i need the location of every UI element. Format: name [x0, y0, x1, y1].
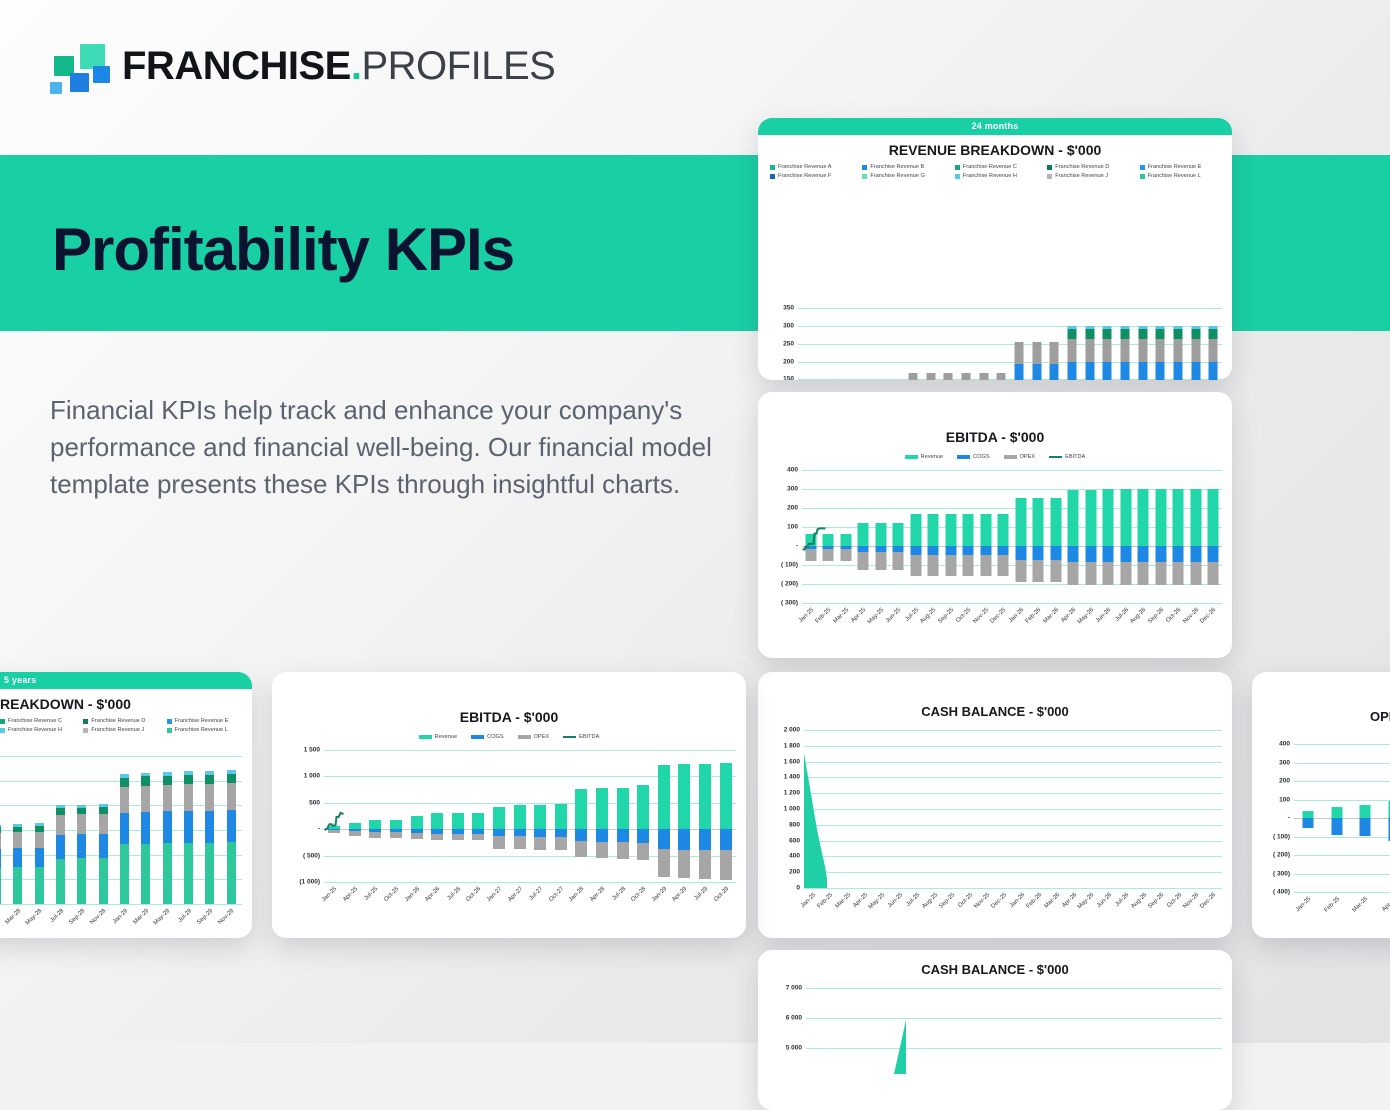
bar-segment: [35, 832, 44, 848]
bar-segment: [0, 849, 1, 868]
y-axis-tick: ( 100): [1273, 833, 1294, 840]
bar-segment: [205, 775, 214, 784]
bar-segment: [997, 373, 1006, 380]
bar-segment: [56, 835, 65, 859]
bar-segment: [369, 820, 381, 829]
x-axis-tick: Apr-26: [1061, 892, 1078, 909]
bar-segment: [184, 775, 193, 784]
bar-segment: [1103, 562, 1114, 585]
legend-swatch-opex: [518, 735, 531, 739]
x-axis-tick: Dec-26: [1200, 892, 1218, 910]
legend-swatch-h: [955, 174, 960, 179]
legend-label: Franchise Revenue E: [1148, 164, 1202, 170]
brand-name-dot: .: [351, 44, 362, 88]
x-axis-tick: Feb-25: [817, 892, 835, 910]
bar-segment: [658, 849, 670, 876]
x-axis-tick: May-25: [867, 607, 885, 625]
legend-item: Franchise Revenue G: [856, 173, 948, 179]
bar-segment: [1103, 546, 1114, 562]
bar-segment: [979, 373, 988, 380]
x-axis-tick: Jan-25: [321, 886, 338, 903]
x-axis-tick: Aug-26: [1130, 607, 1148, 625]
x-axis-tick: Sep-25: [937, 607, 955, 625]
plot-revenue-24m: -50100150200250300350Jan-25Feb-25Mar-25A…: [798, 308, 1222, 380]
bar-segment: [910, 546, 921, 555]
legend-label: Franchise Revenue D: [91, 718, 145, 724]
bar-segment: [1208, 489, 1219, 546]
x-axis-tick: Apr-29: [672, 886, 689, 903]
bar-segment: [184, 784, 193, 811]
bar-segment: [1015, 546, 1026, 560]
bar-segment: [369, 832, 381, 838]
bar-segment: [184, 811, 193, 843]
logo-squares-icon: [46, 40, 108, 92]
bar-segment: [120, 813, 129, 844]
legend-swatch-e: [167, 719, 172, 724]
bar-segment: [699, 850, 711, 879]
bar-segment: [514, 829, 526, 836]
card-cash-balance-5y[interactable]: CASH BALANCE - $'000 7 0006 0005 000: [758, 950, 1232, 1110]
x-axis-tick: Sep-25: [938, 892, 956, 910]
bar-segment: [472, 813, 484, 829]
y-axis-tick: ( 500): [303, 852, 324, 859]
bar-segment: [575, 789, 587, 829]
legend-swatch-h: [0, 728, 5, 733]
x-axis-tick: Oct-25: [957, 892, 974, 909]
bar-segment: [637, 829, 649, 842]
bar-segment: [945, 514, 956, 546]
bar-segment: [0, 868, 1, 904]
bar-segment: [431, 834, 443, 840]
bar-segment: [910, 514, 921, 546]
bar-segment: [858, 523, 869, 546]
x-axis-tick: Mar-28: [5, 908, 23, 926]
bar-segment: [555, 804, 567, 829]
brand-wordmark: FRANCHISE.PROFILES: [122, 46, 555, 86]
brand-logo[interactable]: FRANCHISE.PROFILES: [46, 40, 555, 92]
bar-segment: [980, 514, 991, 546]
bar-segment: [514, 836, 526, 849]
bar-segment: [637, 843, 649, 860]
x-axis-tick: Jan-26: [404, 886, 421, 903]
bar-segment: [1015, 498, 1026, 546]
x-axis-tick: May-26: [1077, 892, 1095, 910]
bar-segment: [13, 848, 22, 867]
x-axis-tick: Nov-26: [1182, 892, 1200, 910]
bar-segment: [1085, 490, 1096, 546]
cash-area: [806, 988, 906, 1074]
x-axis-tick: Jan-29: [112, 908, 129, 925]
y-axis-tick: 300: [1279, 759, 1294, 766]
bar-segment: [908, 373, 917, 380]
x-axis-tick: Jul-27: [529, 886, 545, 902]
x-axis-tick: Jul-29: [177, 908, 193, 924]
bar-segment: [13, 832, 22, 848]
bar-segment: [1050, 560, 1061, 582]
bar-segment: [1138, 329, 1147, 339]
x-axis-tick: Dec-25: [990, 607, 1008, 625]
legend-item: Revenue: [419, 734, 457, 740]
brand-name-light: PROFILES: [361, 44, 555, 88]
bar-segment: [1173, 489, 1184, 546]
bar-segment: [998, 555, 1009, 576]
legend-swatch-opex: [1004, 455, 1017, 459]
bar-segment: [1033, 560, 1044, 582]
x-axis-tick: Jul-26: [446, 886, 462, 902]
x-axis-tick: Apr-28: [589, 886, 606, 903]
x-axis-tick: Mar-25: [832, 607, 850, 625]
x-axis-tick: Jun-26: [1095, 607, 1112, 624]
x-axis-tick: Mar-26: [1043, 892, 1061, 910]
bar-segment: [1155, 562, 1166, 585]
card-ebitda-5y[interactable]: EBITDA - $'000 Revenue COGS OPEX EBITDA …: [272, 672, 746, 938]
plot-ebitda-5y: (1 000)( 500)-5001 0001 500Jan-25Apr-25J…: [324, 750, 736, 882]
bar-segment: [1103, 489, 1114, 546]
legend-swatch-d: [1047, 165, 1052, 170]
chart-title-cash-24m: CASH BALANCE - $'000: [758, 704, 1232, 719]
bar-segment: [658, 829, 670, 849]
legend-item: Franchise Revenue L: [1134, 173, 1226, 179]
bar-segment: [699, 764, 711, 829]
bar-segment: [184, 843, 193, 904]
x-axis-tick: Sep-26: [1147, 892, 1165, 910]
bar-segment: [1085, 546, 1096, 562]
x-axis-tick: Nov-29: [218, 908, 236, 926]
bar-segment: [411, 816, 423, 829]
y-axis-tick: 6 000: [786, 1015, 806, 1022]
legend-swatch-j: [83, 728, 88, 733]
bar-segment: [1303, 811, 1314, 818]
bar-segment: [1156, 362, 1165, 380]
x-axis-tick: Jan-27: [486, 886, 503, 903]
legend-item: COGS: [471, 734, 503, 740]
card-opex-partial[interactable]: OPE ( 400)( 300)( 200)( 100)-10020030040…: [1252, 672, 1390, 938]
bar-segment: [678, 829, 690, 850]
cash-area: [804, 730, 827, 888]
y-axis-tick: 200: [783, 358, 798, 365]
legend-revenue-24m: Franchise Revenue A Franchise Revenue B …: [764, 164, 1226, 179]
plot-revenue-5y: Jan-27Mar-27May-27Jul-27Sep-27Nov-27Jan-…: [0, 756, 242, 904]
ebitda-line: [802, 470, 826, 603]
y-axis-tick: 1 500: [304, 747, 324, 754]
bar-segment: [945, 546, 956, 555]
x-axis-tick: Oct-26: [1166, 892, 1183, 909]
x-axis-tick: Feb-25: [815, 607, 833, 625]
legend-swatch-d: [83, 719, 88, 724]
bar-segment: [840, 549, 851, 561]
bar-segment: [77, 814, 86, 834]
x-axis-tick: Oct-29: [713, 886, 730, 903]
bar-segment: [1120, 339, 1129, 362]
bar-segment: [227, 774, 236, 783]
legend-label: OPEX: [1020, 454, 1036, 460]
y-axis-tick: 400: [787, 467, 802, 474]
bar-segment: [980, 546, 991, 555]
legend-label: Franchise Revenue L: [1148, 173, 1201, 179]
y-axis-tick: 300: [787, 486, 802, 493]
bar-segment: [534, 805, 546, 829]
bar-segment: [875, 523, 886, 546]
bar-segment: [0, 833, 1, 849]
legend-item: OPEX: [1004, 454, 1036, 460]
legend-swatch-g: [862, 174, 867, 179]
legend-swatch-c: [955, 165, 960, 170]
x-axis-tick: May-26: [1077, 607, 1095, 625]
y-axis-tick: ( 200): [781, 581, 802, 588]
bar-segment: [35, 867, 44, 904]
legend-item: Franchise Revenue D: [83, 718, 166, 724]
bar-segment: [452, 834, 464, 840]
legend-item: Franchise Revenue B: [856, 164, 948, 170]
chart-title-opex: OPE: [1252, 709, 1390, 724]
bar-segment: [493, 807, 505, 830]
y-axis-tick: 200: [789, 869, 804, 876]
y-axis-tick: ( 100): [781, 562, 802, 569]
plot-ebitda-24m: ( 300)( 200)( 100)-100200300400Jan-25Feb…: [802, 470, 1222, 603]
bar-segment: [1138, 362, 1147, 380]
bar-segment: [390, 832, 402, 838]
legend-swatch-c: [0, 719, 5, 724]
y-axis-tick: 1 000: [784, 806, 804, 813]
bar-segment: [99, 814, 108, 834]
bar-segment: [1138, 562, 1149, 585]
chart-title-ebitda-5y: EBITDA - $'000: [272, 709, 746, 725]
bar-segment: [1032, 364, 1041, 380]
bar-segment: [1155, 489, 1166, 546]
bar-segment: [56, 815, 65, 835]
x-axis-tick: Jun-25: [887, 892, 904, 909]
legend-item: Revenue: [905, 454, 943, 460]
bar-segment: [596, 829, 608, 842]
x-axis-tick: Oct-27: [548, 886, 565, 903]
x-axis-tick: Jul-29: [693, 886, 709, 902]
legend-item: Franchise Revenue C: [949, 164, 1041, 170]
legend-label: OPEX: [534, 734, 550, 740]
legend-label: Franchise Revenue H: [8, 727, 62, 733]
legend-label: Franchise Revenue F: [778, 173, 831, 179]
y-axis-tick: 1 000: [304, 773, 324, 780]
bar-segment: [1050, 364, 1059, 380]
y-axis-tick: 150: [783, 376, 798, 380]
bar-segment: [1173, 546, 1184, 562]
bar-segment: [1068, 562, 1079, 585]
x-axis-tick: Sep-28: [68, 908, 86, 926]
bar-segment: [1033, 498, 1044, 546]
legend-item: EBITDA: [1049, 454, 1085, 460]
x-axis-tick: Apr-25: [342, 886, 359, 903]
x-axis-tick: Jan-25: [798, 607, 815, 624]
legend-label: Revenue: [921, 454, 943, 460]
bar-segment: [1103, 362, 1112, 380]
page-title: Profitability KPIs: [52, 215, 514, 284]
legend-item: Franchise Revenue C: [0, 718, 83, 724]
bar-segment: [1360, 818, 1371, 836]
x-axis-tick: Aug-25: [921, 892, 939, 910]
y-axis-tick: 2 000: [784, 727, 804, 734]
bar-segment: [77, 834, 86, 858]
bar-segment: [141, 786, 150, 812]
legend-swatch-revenue: [419, 735, 432, 739]
bar-segment: [699, 829, 711, 850]
bar-segment: [1067, 362, 1076, 380]
y-axis-tick: ( 300): [781, 600, 802, 607]
bar-segment: [1190, 562, 1201, 585]
bar-segment: [452, 813, 464, 829]
y-axis-tick: 800: [789, 821, 804, 828]
bar-segment: [840, 534, 851, 546]
bar-segment: [875, 552, 886, 569]
y-axis-tick: ( 200): [1273, 852, 1294, 859]
x-axis-tick: Apr-26: [425, 886, 442, 903]
bar-segment: [141, 812, 150, 844]
bar-segment: [1068, 546, 1079, 562]
bar-segment: [99, 858, 108, 904]
bar-segment: [1014, 364, 1023, 380]
y-axis-tick: 100: [1279, 796, 1294, 803]
legend-item: Franchise Revenue D: [1041, 164, 1133, 170]
plot-cash-5y: 7 0006 0005 000: [806, 988, 1222, 1074]
bar-segment: [120, 844, 129, 904]
bar-segment: [1120, 362, 1129, 380]
bar-segment: [944, 373, 953, 380]
bar-segment: [1050, 546, 1061, 560]
legend-label: COGS: [973, 454, 989, 460]
x-axis-tick: May-28: [25, 908, 43, 926]
legend-swatch-l: [167, 728, 172, 733]
bar-segment: [1156, 329, 1165, 339]
bar-segment: [678, 850, 690, 879]
y-axis-tick: 350: [783, 305, 798, 312]
bar-segment: [1120, 546, 1131, 562]
bar-segment: [1209, 362, 1218, 380]
bar-segment: [596, 788, 608, 829]
y-axis-tick: 7 000: [786, 985, 806, 992]
x-axis-tick: Jul-26: [1114, 607, 1130, 623]
y-axis-tick: 400: [1279, 741, 1294, 748]
bar-segment: [1120, 329, 1129, 339]
y-axis-tick: (1 000): [299, 879, 324, 886]
x-axis-tick: Nov-26: [1182, 607, 1200, 625]
legend-swatch-j: [1047, 174, 1052, 179]
bar-segment: [720, 829, 732, 850]
y-axis-tick: ( 400): [1273, 889, 1294, 896]
x-axis-tick: Nov-25: [973, 892, 991, 910]
legend-swatch-ebitda: [1049, 456, 1062, 458]
x-axis-tick: Sep-26: [1147, 607, 1165, 625]
legend-label: EBITDA: [579, 734, 599, 740]
bar-segment: [411, 833, 423, 839]
bar-segment: [1190, 546, 1201, 562]
legend-swatch-cogs: [471, 735, 484, 739]
bar-segment: [1208, 546, 1219, 562]
bar-segment: [514, 805, 526, 829]
bar-segment: [493, 829, 505, 836]
bar-segment: [910, 555, 921, 576]
bar-segment: [1173, 329, 1182, 339]
bar-segment: [1032, 342, 1041, 364]
legend-item: COGS: [957, 454, 989, 460]
bar-segment: [349, 831, 361, 836]
legend-label: Franchise Revenue G: [870, 173, 924, 179]
bar-segment: [617, 788, 629, 830]
x-axis-tick: Jan-28: [0, 908, 1, 925]
bar-segment: [617, 829, 629, 842]
x-axis-tick: Feb-26: [1025, 607, 1043, 625]
bar-segment: [596, 842, 608, 858]
y-axis-tick: 250: [783, 340, 798, 347]
y-axis-tick: 400: [789, 853, 804, 860]
y-axis-tick: 600: [789, 837, 804, 844]
legend-ebitda-24m: Revenue COGS OPEX EBITDA: [758, 454, 1232, 460]
slide-canvas: FRANCHISE.PROFILES Profitability KPIs Fi…: [0, 0, 1390, 1043]
bar-segment: [390, 820, 402, 829]
card-ebitda-24m[interactable]: EBITDA - $'000 Revenue COGS OPEX EBITDA …: [758, 392, 1232, 658]
bar-segment: [1120, 562, 1131, 585]
bar-segment: [1085, 329, 1094, 339]
bar-segment: [961, 373, 970, 380]
bar-segment: [1331, 807, 1342, 818]
bar-segment: [963, 546, 974, 555]
ebitda-line: [324, 750, 344, 882]
x-axis-tick: Feb-26: [1026, 892, 1044, 910]
x-axis-tick: Oct-28: [630, 886, 647, 903]
x-axis-tick: Jan-26: [1008, 607, 1025, 624]
legend-ebitda-5y: Revenue COGS OPEX EBITDA: [272, 734, 746, 740]
bar-segment: [893, 552, 904, 569]
bar-segment: [617, 842, 629, 859]
plot-cash-24m: 02004006008001 0001 2001 4001 6001 8002 …: [804, 730, 1222, 888]
bar-segment: [1209, 329, 1218, 339]
bar-segment: [1138, 489, 1149, 546]
legend-swatch-a: [770, 165, 775, 170]
bar-segment: [141, 776, 150, 785]
card-cash-balance-24m[interactable]: CASH BALANCE - $'000 02004006008001 0001…: [758, 672, 1232, 938]
legend-item: Franchise Revenue E: [1134, 164, 1226, 170]
bar-segment: [163, 776, 172, 785]
legend-label: Franchise Revenue C: [8, 718, 62, 724]
legend-label: Franchise Revenue D: [1055, 164, 1109, 170]
y-axis-tick: 300: [783, 322, 798, 329]
bar-segment: [1085, 562, 1096, 585]
bar-segment: [120, 787, 129, 813]
bar-segment: [998, 514, 1009, 546]
bar-segment: [1085, 362, 1094, 380]
card-revenue-breakdown-5y[interactable]: 5 years REAKDOWN - $'000 Franchise Reven…: [0, 672, 252, 938]
y-axis-tick: 500: [309, 799, 324, 806]
bar-segment: [205, 843, 214, 904]
bar-segment: [555, 829, 567, 837]
bar-segment: [1303, 818, 1314, 828]
legend-swatch-revenue: [905, 455, 918, 459]
legend-swatch-e: [1140, 165, 1145, 170]
x-axis-tick: Apr-25: [852, 892, 869, 909]
bar-segment: [555, 837, 567, 850]
x-axis-tick: Oct-25: [383, 886, 400, 903]
legend-swatch-l: [1140, 174, 1145, 179]
card-revenue-breakdown-24m[interactable]: 24 months REVENUE BREAKDOWN - $'000 Fran…: [758, 118, 1232, 380]
chart-title-revenue-24m: REVENUE BREAKDOWN - $'000: [758, 142, 1232, 158]
legend-item: Franchise Revenue E: [167, 718, 250, 724]
legend-item: Franchise Revenue J: [1041, 173, 1133, 179]
bar-segment: [945, 555, 956, 576]
x-axis-tick: Apr-26: [1061, 607, 1078, 624]
bar-segment: [720, 850, 732, 880]
legend-revenue-5y: Franchise Revenue C Franchise Revenue D …: [0, 718, 250, 733]
x-axis-tick: Oct-26: [1166, 607, 1183, 624]
bar-segment: [1050, 342, 1059, 364]
x-axis-tick: Jan-25: [800, 892, 817, 909]
bar-segment: [56, 859, 65, 904]
